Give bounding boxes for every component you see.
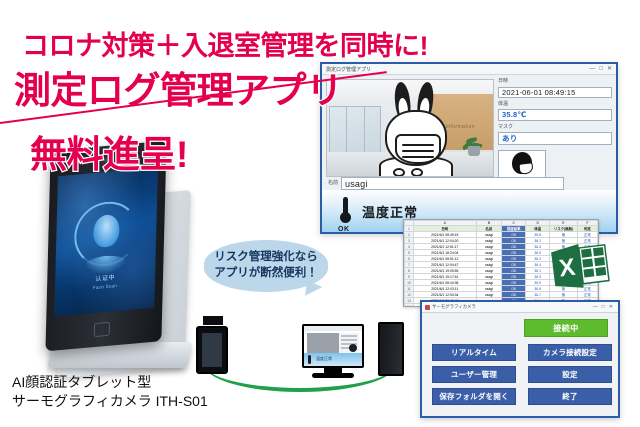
diagram-pc-tower-icon xyxy=(378,322,404,376)
close-icon[interactable]: ✕ xyxy=(607,66,612,72)
temperature-status-text: 温度正常 xyxy=(362,202,418,221)
product-caption: AI顔認証タブレット型 サーモグラフィカメラ ITH-S01 xyxy=(12,373,208,411)
datetime-value: 2021-06-01 08:49:15 xyxy=(502,88,575,97)
diagram-tablet-icon xyxy=(196,326,228,374)
name-input[interactable]: usagi xyxy=(341,177,564,190)
open-save-folder-button[interactable]: 保存フォルダを開く xyxy=(432,388,516,405)
product-caption-line-2: サーモグラフィカメラ ITH-S01 xyxy=(12,392,208,411)
connection-status-row: 接続中 xyxy=(432,319,608,337)
close-icon[interactable]: ✕ xyxy=(609,305,613,310)
name-field-row: 名前 usagi xyxy=(328,177,564,190)
control-panel-title: サーモグラフィカメラ xyxy=(432,304,476,310)
camera-connection-settings-button[interactable]: カメラ接続設定 xyxy=(528,344,612,361)
tablet-screen: 认证中 Face Scan xyxy=(54,167,158,316)
headline-line-2: 測定ログ管理アプリ xyxy=(14,60,343,114)
control-panel-titlebar[interactable]: サーモグラフィカメラ — □ ✕ xyxy=(422,302,618,313)
control-panel-body: 接続中 リアルタイム カメラ接続設定 ユーザー管理 設定 保存フォルダを開く 終… xyxy=(422,313,618,413)
diagram-monitor-icon: 温度正常 xyxy=(302,324,364,368)
minimize-icon[interactable]: — xyxy=(589,66,595,72)
tablet-scan-text: 认证中 Face Scan xyxy=(55,268,155,293)
row-header[interactable]: 14 xyxy=(405,304,414,307)
headline-line-3: 無料進呈! xyxy=(30,124,188,178)
measurement-log-app-window[interactable]: 測定ログ管理アプリ — □ ✕ Information xyxy=(320,62,618,234)
datetime-label: 日時 xyxy=(498,79,612,85)
svg-text:X: X xyxy=(558,254,577,283)
speech-bubble-line-1: リスク管理強化なら xyxy=(214,250,318,266)
product-caption-line-1: AI顔認証タブレット型 xyxy=(12,373,208,392)
name-label: 名前 xyxy=(328,181,338,187)
realtime-button[interactable]: リアルタイム xyxy=(432,344,516,361)
temperature-field[interactable]: 35.8℃ xyxy=(498,109,612,120)
temperature-value: 35.8℃ xyxy=(502,110,527,119)
masked-face-icon xyxy=(509,151,535,177)
app-icon xyxy=(425,305,430,310)
rabbit-mascot-icon xyxy=(373,82,457,177)
ok-label: OK xyxy=(338,226,350,233)
diagram-tablet-top xyxy=(203,316,223,325)
mask-field[interactable]: あり xyxy=(498,132,612,145)
datetime-field[interactable]: 2021-06-01 08:49:15 xyxy=(498,87,612,98)
speech-bubble-line-2: アプリが断然便利！ xyxy=(214,266,318,282)
maximize-icon[interactable]: □ xyxy=(602,305,605,310)
mask-label: マスク xyxy=(498,125,612,131)
connection-cable xyxy=(204,364,396,392)
connection-status-badge: 接続中 xyxy=(524,319,608,337)
app-body: Information 日 xyxy=(322,75,616,192)
user-management-button[interactable]: ユーザー管理 xyxy=(432,366,516,383)
system-diagram: 温度正常 xyxy=(186,312,406,400)
control-button-grid: リアルタイム カメラ接続設定 ユーザー管理 設定 保存フォルダを開く 終了 xyxy=(432,344,608,405)
camera-preview[interactable]: Information xyxy=(326,79,494,177)
diagram-monitor-base xyxy=(312,373,354,378)
promo-poster: 认证中 Face Scan コロナ対策＋入退室管理を同時に! 測定ログ管理アプリ… xyxy=(0,0,640,427)
window-controls[interactable]: — □ ✕ xyxy=(589,66,614,72)
excel-icon: X xyxy=(548,240,611,293)
mask-value: あり xyxy=(502,133,517,144)
home-button[interactable] xyxy=(94,322,110,337)
temperature-label: 体温 xyxy=(498,102,612,108)
thermometer-icon: OK xyxy=(338,196,352,226)
plant-decor xyxy=(463,132,485,156)
speech-bubble: リスク管理強化なら アプリが断然便利！ xyxy=(204,240,328,292)
headline-line-1: コロナ対策＋入退室管理を同時に! xyxy=(22,24,428,63)
control-panel-window[interactable]: サーモグラフィカメラ — □ ✕ 接続中 リアルタイム カメラ接続設定 ユーザー… xyxy=(420,300,620,418)
measurement-info-panel: 日時 2021-06-01 08:49:15 体温 35.8℃ マスク あり マ… xyxy=(498,79,612,188)
exit-button[interactable]: 終了 xyxy=(528,388,612,405)
face-mask-icon xyxy=(395,134,441,164)
minimize-icon[interactable]: — xyxy=(593,305,598,310)
settings-button[interactable]: 設定 xyxy=(528,366,612,383)
name-value: usagi xyxy=(345,179,368,189)
control-panel-window-controls[interactable]: — □ ✕ xyxy=(593,305,615,310)
maximize-icon[interactable]: □ xyxy=(599,66,603,72)
